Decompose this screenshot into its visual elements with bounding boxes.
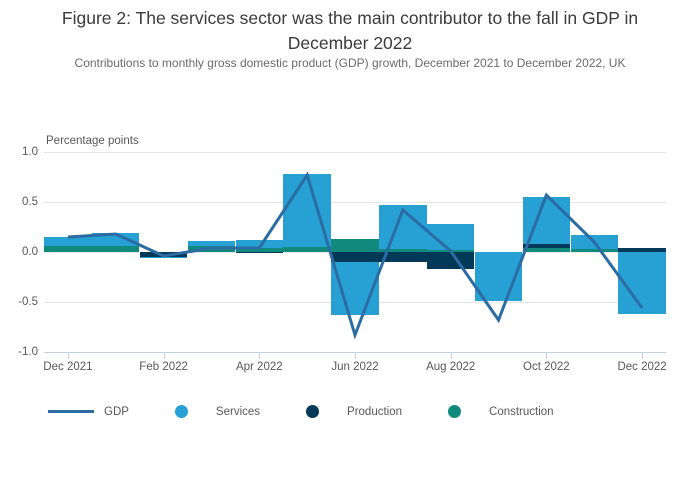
x-tick-mark [259,352,260,359]
y-tick-label: 0.0 [0,246,38,258]
x-axis-tick-labels: Dec 2021Feb 2022Apr 2022Jun 2022Aug 2022… [44,352,666,378]
bar-segment [571,235,618,249]
legend-label: Construction [489,406,554,418]
bar-segment [44,246,91,252]
x-tick-mark [546,352,547,359]
legend-label: GDP [104,406,129,418]
bar-segment [140,257,187,258]
figure-title: Figure 2: The services sector was the ma… [20,6,680,56]
y-tick-label: -1.0 [0,346,38,358]
legend-dot-icon [175,405,188,418]
x-tick-label: Oct 2022 [523,361,570,373]
legend-item[interactable]: GDP [48,406,129,418]
bar-segment [44,237,91,246]
bar-segment [379,205,426,249]
bar-segment [571,249,618,252]
bar-segment [331,239,378,252]
bar-segment [331,252,378,262]
plot-area [44,152,666,352]
bar-segment [475,252,522,301]
gridline [44,202,666,203]
bar-segment [283,247,330,252]
x-tick-label: Feb 2022 [139,361,188,373]
y-tick-label: -0.5 [0,296,38,308]
legend-item[interactable]: Construction [448,405,554,418]
y-axis-unit-label: Percentage points [46,135,139,147]
x-tick-label: Dec 2022 [617,361,666,373]
bar-segment [283,174,330,247]
x-tick-label: Dec 2021 [43,361,92,373]
bar-segment [427,224,474,250]
x-tick-mark [164,352,165,359]
legend-item[interactable]: Production [306,405,402,418]
x-tick-label: Aug 2022 [426,361,475,373]
x-tick-label: Apr 2022 [236,361,283,373]
bar-segment [92,233,139,246]
bar-segment [523,248,570,252]
legend-item[interactable]: Services [175,405,260,418]
x-tick-mark [355,352,356,359]
x-tick-label: Jun 2022 [331,361,378,373]
bar-segment [236,252,283,253]
bar-segment [188,241,235,246]
legend-line-icon [48,410,94,413]
y-axis-tick-labels: 1.00.50.0-0.5-1.0 [0,152,38,352]
figure-subtitle: Contributions to monthly gross domestic … [20,56,680,70]
bar-segment [523,197,570,244]
bar-segment [618,252,665,314]
legend-label: Services [216,406,260,418]
x-tick-mark [451,352,452,359]
bar-segment [427,252,474,269]
y-tick-label: 1.0 [0,146,38,158]
bar-segment [236,240,283,248]
bar-segment [92,246,139,252]
bar-segment [188,246,235,252]
y-tick-label: 0.5 [0,196,38,208]
figure-container: Figure 2: The services sector was the ma… [0,0,700,502]
chart-legend: GDPServicesProductionConstruction [48,405,600,418]
legend-label: Production [347,406,402,418]
legend-dot-icon [306,405,319,418]
x-tick-mark [68,352,69,359]
bar-segment [523,244,570,248]
legend-dot-icon [448,405,461,418]
gridline [44,152,666,153]
x-tick-mark [642,352,643,359]
bar-segment [331,262,378,315]
bar-segment [379,252,426,262]
